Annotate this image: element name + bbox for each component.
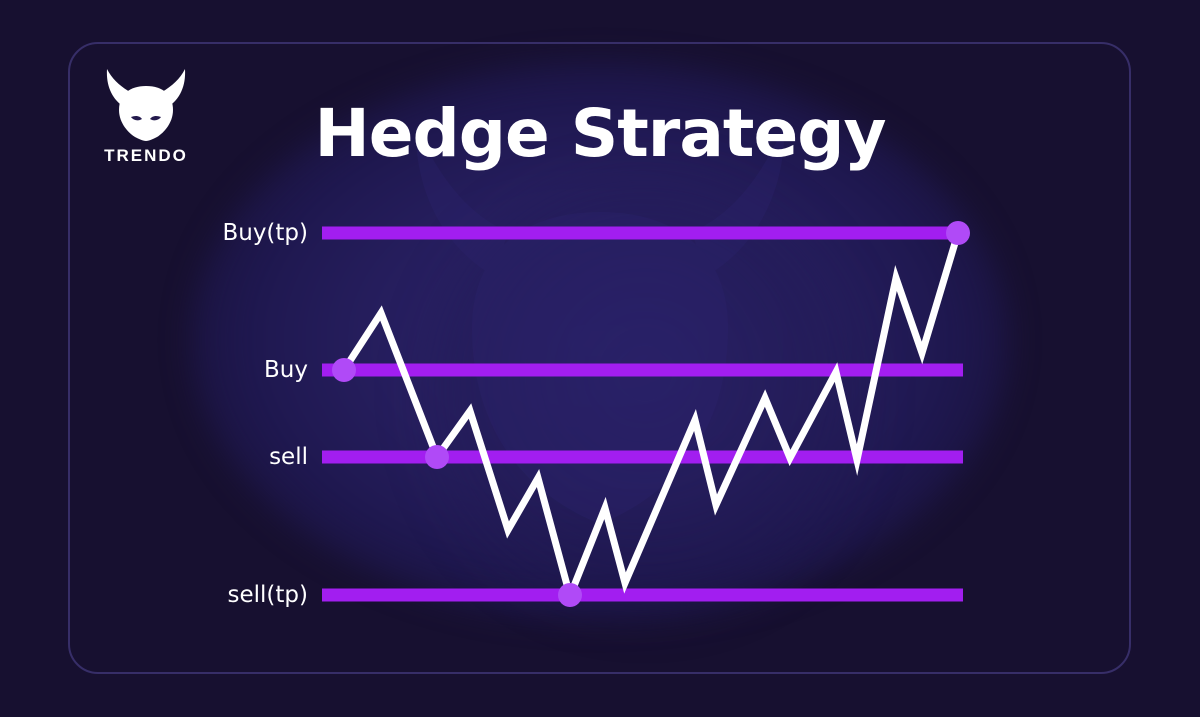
level-marker-group <box>332 221 970 607</box>
level-label-sell: sell <box>108 444 308 470</box>
price-line-group <box>344 233 958 596</box>
level-label-buytp: Buy(tp) <box>108 220 308 246</box>
signal-marker-sell[interactable] <box>425 445 449 469</box>
price-polyline <box>344 233 958 596</box>
signal-marker-buytp[interactable] <box>946 221 970 245</box>
signal-marker-buy[interactable] <box>332 358 356 382</box>
signal-marker-selltp[interactable] <box>558 583 582 607</box>
level-label-buy: Buy <box>108 357 308 383</box>
hedge-strategy-chart: Buy(tp)Buysellsell(tp) <box>0 0 1200 717</box>
level-label-selltp: sell(tp) <box>108 582 308 608</box>
hedge-strategy-poster: TRENDO Hedge Strategy Buy(tp)Buysellsell… <box>0 0 1200 717</box>
